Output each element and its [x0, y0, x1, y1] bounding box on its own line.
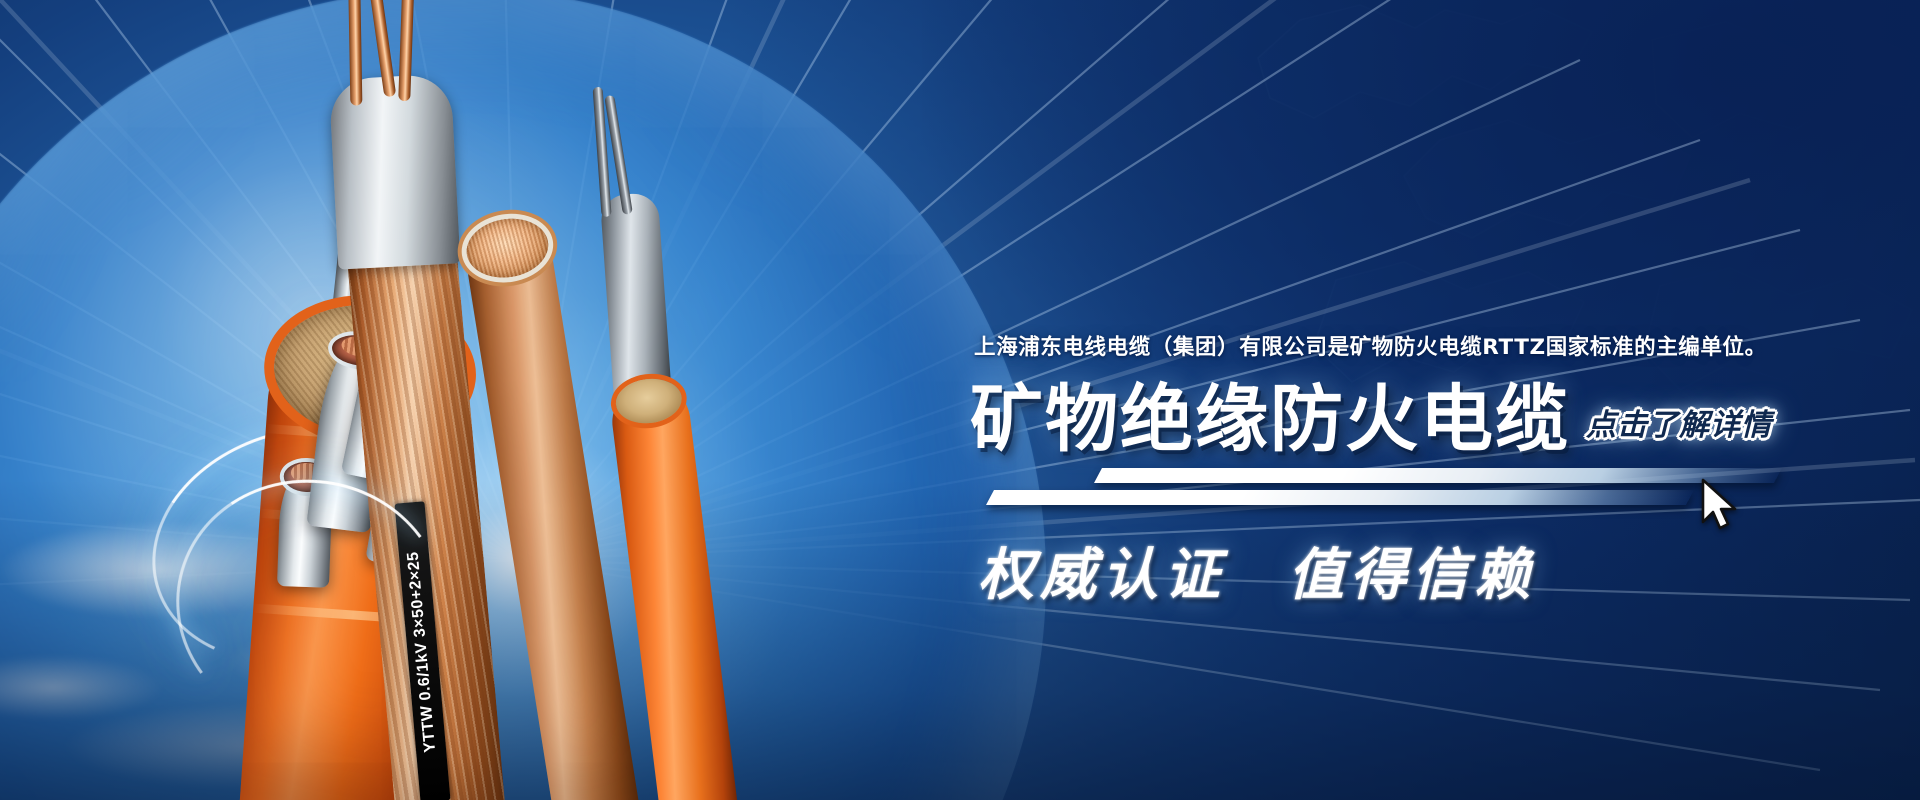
decorative-divider-bars [882, 464, 1742, 518]
cable-product-photo: YTTW 0.6/1kV 3×50+2×25 [0, 0, 1000, 800]
headline-row: 矿物绝缘防火电缆 点击了解详情 [970, 385, 1832, 454]
banner-headline: 矿物绝缘防火电缆 [970, 385, 1570, 454]
banner-subtitle: 上海浦东电线电缆（集团）有限公司是矿物防火电缆RTTZ国家标准的主编单位。 [974, 330, 1832, 361]
banner-text-block: 上海浦东电线电缆（集团）有限公司是矿物防火电缆RTTZ国家标准的主编单位。 矿物… [972, 330, 1832, 611]
divider-bar-top [1094, 468, 1782, 483]
banner-tagline: 权威认证 值得信赖 [978, 530, 1832, 611]
promo-banner: YTTW 0.6/1kV 3×50+2×25 上海浦东电线电缆（集团）有限公司是… [0, 0, 1920, 800]
divider-bar-bottom [986, 490, 1694, 505]
mouse-pointer-icon [1700, 478, 1742, 536]
learn-more-cta[interactable]: 点击了解详情 [1586, 400, 1772, 454]
